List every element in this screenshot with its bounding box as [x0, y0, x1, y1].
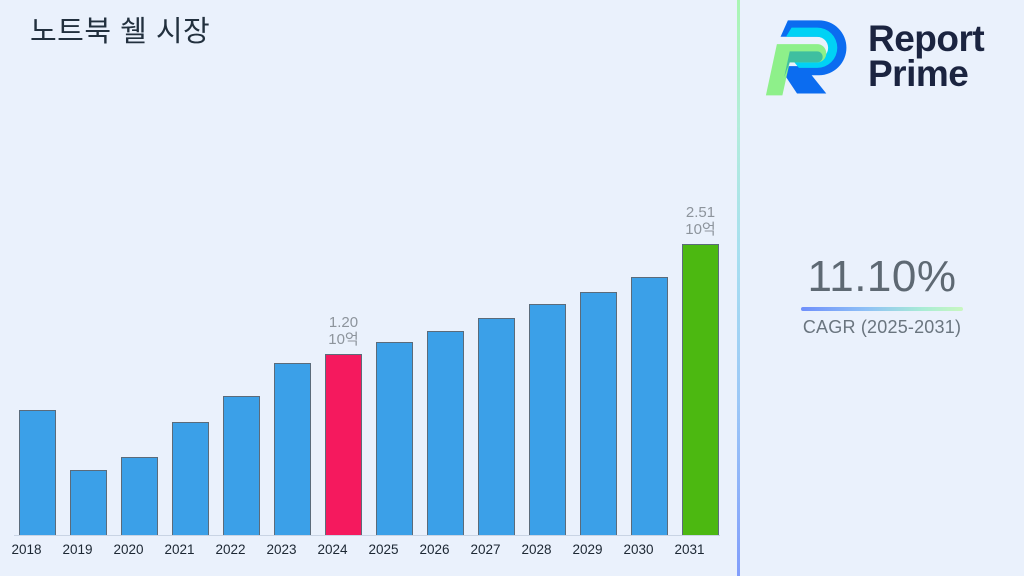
- logo-wordmark: Report Prime: [868, 21, 984, 91]
- bar-2028[interactable]: [529, 304, 566, 535]
- bar-2023[interactable]: [274, 363, 311, 535]
- bar-rect-2021[interactable]: [172, 422, 209, 535]
- bar-2020[interactable]: [121, 457, 158, 535]
- bar-2018[interactable]: [19, 410, 56, 535]
- bar-2021[interactable]: [172, 422, 209, 535]
- x-axis-line: [14, 535, 720, 536]
- bar-rect-2031[interactable]: [682, 244, 719, 535]
- bar-2026[interactable]: [427, 331, 464, 535]
- bar-value-unit-2031: 10억: [668, 221, 733, 238]
- cagr-value: 11.10%: [740, 252, 1024, 302]
- bar-rect-2023[interactable]: [274, 363, 311, 535]
- bar-chart-plot: 1.2010억2.5110억: [0, 120, 738, 536]
- bar-value-label-2031: 2.5110억: [668, 204, 733, 238]
- bar-2029[interactable]: [580, 292, 617, 535]
- bar-rect-2019[interactable]: [70, 470, 107, 535]
- page-title: 노트북 쉘 시장: [30, 8, 210, 50]
- cagr-divider-rule: [801, 307, 963, 311]
- bar-rect-2018[interactable]: [19, 410, 56, 535]
- cagr-caption: CAGR (2025-2031): [740, 317, 1024, 338]
- bar-rect-2026[interactable]: [427, 331, 464, 535]
- cagr-block: 11.10% CAGR (2025-2031): [740, 252, 1024, 338]
- bar-2019[interactable]: [70, 470, 107, 535]
- logo-wordmark-line2: Prime: [868, 56, 984, 91]
- bar-rect-2027[interactable]: [478, 318, 515, 535]
- bar-rect-2025[interactable]: [376, 342, 413, 535]
- x-tick-2031: 2031: [660, 542, 720, 557]
- report-prime-logo: Report Prime: [762, 8, 1012, 104]
- bar-rect-2020[interactable]: [121, 457, 158, 535]
- bar-rect-2030[interactable]: [631, 277, 668, 535]
- x-axis-tick-labels: 2018201920202021202220232024202520262027…: [0, 542, 738, 566]
- bar-2024[interactable]: 1.2010억: [325, 354, 362, 535]
- bar-rect-2028[interactable]: [529, 304, 566, 535]
- brand-panel: Report Prime 11.10% CAGR (2025-2031): [740, 0, 1024, 576]
- bar-2031[interactable]: 2.5110억: [682, 244, 719, 535]
- bar-2030[interactable]: [631, 277, 668, 535]
- bar-rect-2022[interactable]: [223, 396, 260, 535]
- bar-2022[interactable]: [223, 396, 260, 535]
- bar-value-unit-2024: 10억: [311, 331, 376, 348]
- bar-value-number-2024: 1.20: [329, 314, 358, 331]
- slide-root: 노트북 쉘 시장 1.2010억2.5110억 2018201920202021…: [0, 0, 1024, 576]
- bar-2027[interactable]: [478, 318, 515, 535]
- logo-wordmark-line1: Report: [868, 21, 984, 56]
- bar-rect-2024[interactable]: [325, 354, 362, 535]
- chart-panel: 노트북 쉘 시장 1.2010억2.5110억 2018201920202021…: [0, 0, 738, 576]
- bar-rect-2029[interactable]: [580, 292, 617, 535]
- bar-2025[interactable]: [376, 342, 413, 535]
- report-prime-logo-icon: [762, 13, 854, 99]
- bar-value-number-2031: 2.51: [686, 204, 715, 221]
- bar-value-label-2024: 1.2010억: [311, 314, 376, 348]
